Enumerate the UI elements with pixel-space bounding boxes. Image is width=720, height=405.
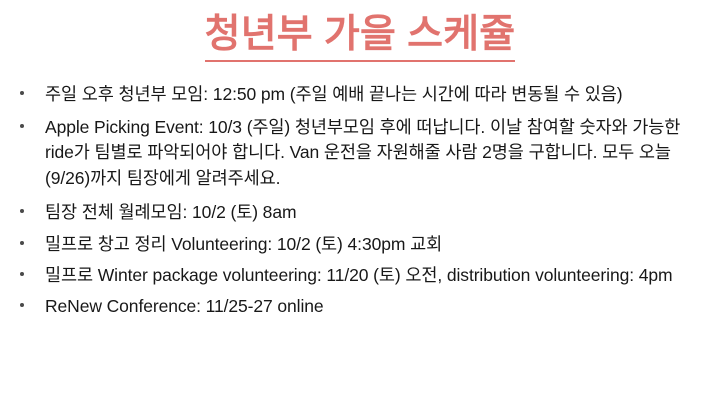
list-item-sunday-meeting: 주일 오후 청년부 모임: 12:50 pm (주일 예배 끝나는 시간에 따라… bbox=[0, 82, 720, 108]
list-item-text: 밀프로 Winter package volunteering: 11/20 (… bbox=[45, 263, 698, 289]
list-item-milpro-warehouse-volunteering: 밀프로 창고 정리 Volunteering: 10/2 (토) 4:30pm … bbox=[0, 232, 720, 258]
bullet-dot-icon bbox=[20, 303, 24, 307]
list-item-renew-conference: ReNew Conference: 11/25-27 online bbox=[0, 294, 720, 320]
page-title: 청년부 가을 스케쥴 bbox=[205, 11, 516, 62]
presentation-slide: 청년부 가을 스케쥴 주일 오후 청년부 모임: 12:50 pm (주일 예배… bbox=[0, 0, 720, 405]
bullet-dot-icon bbox=[20, 209, 24, 213]
list-item-text: 팀장 전체 월례모임: 10/2 (토) 8am bbox=[45, 200, 698, 226]
bullet-dot-icon bbox=[20, 124, 24, 128]
list-item-leaders-monthly-meeting: 팀장 전체 월례모임: 10/2 (토) 8am bbox=[0, 200, 720, 226]
list-item-text: Apple Picking Event: 10/3 (주일) 청년부모임 후에 … bbox=[45, 115, 698, 192]
list-item-milpro-winter-package-volunteering: 밀프로 Winter package volunteering: 11/20 (… bbox=[0, 263, 720, 289]
bullet-dot-icon bbox=[20, 91, 24, 95]
list-item-text: 밀프로 창고 정리 Volunteering: 10/2 (토) 4:30pm … bbox=[45, 232, 698, 258]
list-item-apple-picking-event: Apple Picking Event: 10/3 (주일) 청년부모임 후에 … bbox=[0, 115, 720, 192]
schedule-bullet-list: 주일 오후 청년부 모임: 12:50 pm (주일 예배 끝나는 시간에 따라… bbox=[0, 82, 720, 319]
bullet-dot-icon bbox=[20, 241, 24, 245]
list-item-text: 주일 오후 청년부 모임: 12:50 pm (주일 예배 끝나는 시간에 따라… bbox=[45, 82, 698, 108]
bullet-dot-icon bbox=[20, 272, 24, 276]
slide-title-block: 청년부 가을 스케쥴 bbox=[0, 11, 720, 62]
list-item-text: ReNew Conference: 11/25-27 online bbox=[45, 294, 698, 320]
